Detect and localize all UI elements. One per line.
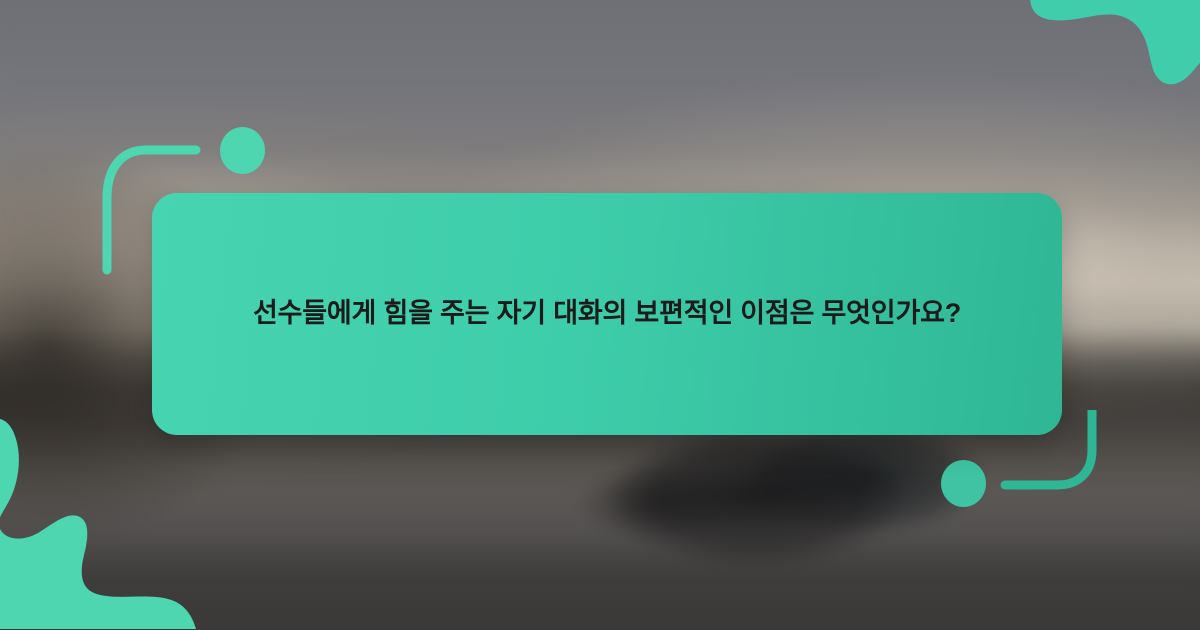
wave-blob-bottom-left [0,413,234,630]
accent-dot-top [220,127,265,174]
wave-blob-top-right [1000,0,1200,137]
accent-dot-bottom [941,460,986,507]
wave-blob-bottom-left-shape [0,413,234,629]
wave-blob-top-right-shape [1000,0,1200,132]
social-card-canvas: 선수들에게 힘을 주는 자기 대화의 보편적인 이점은 무엇인가요? [0,0,1200,630]
card-title: 선수들에게 힘을 주는 자기 대화의 보편적인 이점은 무엇인가요? [253,289,961,339]
headline-card: 선수들에게 힘을 주는 자기 대화의 보편적인 이점은 무엇인가요? [152,193,1062,435]
